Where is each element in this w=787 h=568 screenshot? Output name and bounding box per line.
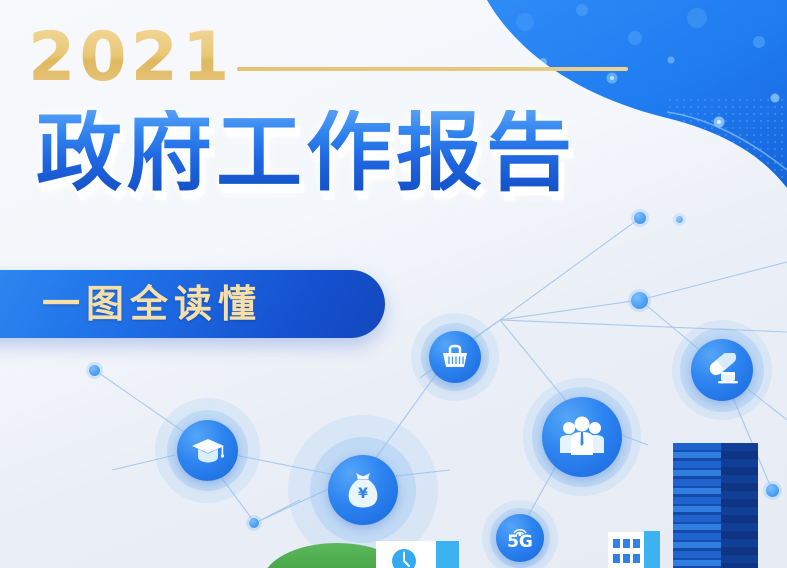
- gold-divider-line: [237, 67, 628, 71]
- graduation-cap-icon: [191, 436, 225, 466]
- white-office-building: [608, 532, 644, 568]
- pill-medicine-icon: [704, 353, 740, 387]
- green-hill-decoration: [262, 543, 412, 568]
- subtitle-banner-label: 一图全读懂: [42, 285, 262, 323]
- cyan-block-2: [644, 531, 660, 568]
- page-title-text: 政府工作报告: [36, 110, 656, 196]
- shopping-basket-icon: [440, 343, 470, 371]
- node-people[interactable]: [523, 378, 641, 496]
- node-finance[interactable]: ¥: [288, 415, 438, 565]
- subtitle-banner[interactable]: 一图全读懂: [0, 270, 385, 338]
- network-dot-5: [766, 484, 779, 497]
- cyan-block-1: [436, 541, 459, 568]
- network-dot-6: [676, 216, 683, 223]
- money-bag-currency: ¥: [358, 486, 368, 502]
- node-consumption[interactable]: [411, 313, 499, 401]
- node-education[interactable]: [155, 398, 260, 503]
- 5g-badge-label: 5G: [507, 534, 533, 551]
- network-dot-2: [249, 518, 259, 528]
- money-bag-icon: ¥: [344, 470, 382, 510]
- clock-icon: [390, 547, 418, 568]
- page-title: 政府工作报告 政府工作报告: [36, 110, 656, 215]
- network-dot-1: [89, 365, 100, 376]
- dark-skyscraper: [721, 443, 758, 568]
- striped-skyscraper: [673, 443, 721, 568]
- 5g-signal-icon: [512, 525, 528, 536]
- network-dot-3: [631, 292, 648, 309]
- people-group-icon: [557, 415, 607, 459]
- poster-year: 2021: [28, 24, 233, 92]
- poster-canvas: 2021 政府工作报告 政府工作报告 一图全读懂: [0, 0, 787, 568]
- node-healthcare[interactable]: [672, 320, 772, 420]
- clock-card: [376, 541, 436, 568]
- node-5g[interactable]: 5G: [482, 500, 558, 568]
